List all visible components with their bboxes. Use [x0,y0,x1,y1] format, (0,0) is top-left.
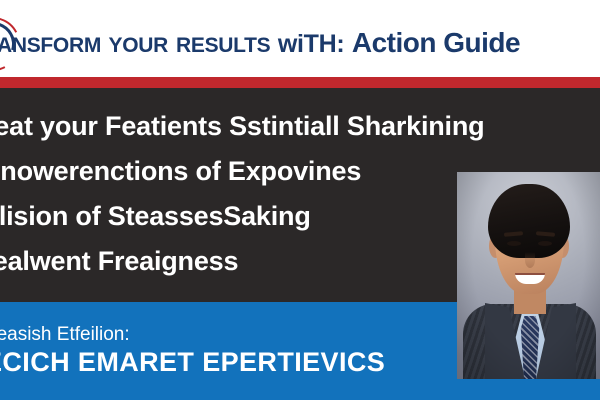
headline-line-1: reat your Featients Sstintiall Sharkinin… [0,104,504,149]
photo-hair [488,184,570,258]
photo-nose [525,252,535,268]
header-title-segment-with: wiTH: [278,30,345,58]
speaker-name: ECICH EMARET EPERTIEVICS [0,347,385,378]
headline-line-3: elision of SteassesSaking [0,194,504,239]
webinar-banner: TANSFORM Your Results wiTH: Action Guide… [0,0,600,400]
header-title-segment-transform: TANSFORM [0,26,101,59]
header-bar: TANSFORM Your Results wiTH: Action Guide [0,0,600,77]
headline-line-2: nnowerenctions of Expovines [0,149,504,194]
header-title-segment-your-results: Your Results [109,26,271,59]
speaker-headshot-photo [457,172,600,379]
header-title-segment-action-guide: Action Guide [352,27,520,58]
headline-block: reat your Featients Sstintiall Sharkinin… [0,104,504,284]
photo-eye-left [507,241,521,246]
red-divider [0,77,600,88]
header-title: TANSFORM Your Results wiTH: Action Guide [0,26,520,61]
photo-eye-right [538,241,552,246]
headline-line-4: tealwent Freaigness [0,239,504,284]
speaker-label: eeasish Etfeilion: [0,324,130,346]
